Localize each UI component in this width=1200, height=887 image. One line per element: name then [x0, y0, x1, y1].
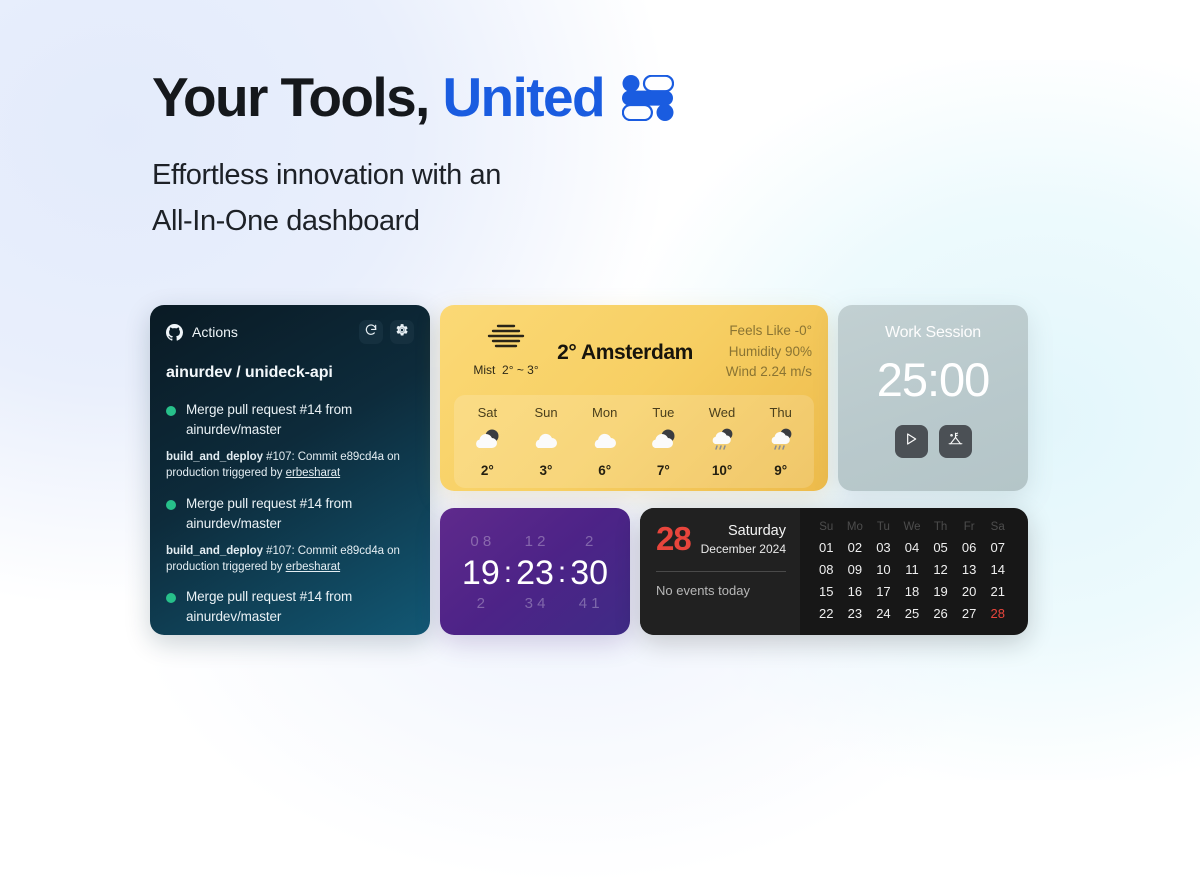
calendar-day-cell[interactable]: 03: [869, 540, 898, 555]
calendar-month-year: December 2024: [701, 542, 786, 556]
calendar-day-cell[interactable]: 16: [841, 584, 870, 599]
gear-icon: [395, 323, 409, 342]
forecast-temp: 3°: [540, 463, 553, 478]
clock-ghost-below: 4 1: [579, 593, 600, 616]
work-session-timer: 25:00: [877, 356, 990, 403]
run-user-link[interactable]: erbesharat: [286, 561, 340, 573]
calendar-day-cell[interactable]: 10: [869, 562, 898, 577]
clock-ghost-above: 0 8: [470, 531, 491, 554]
hero-title-main: Your Tools,: [152, 70, 429, 125]
weather-condition-label: Mist: [473, 363, 495, 377]
github-icon: [166, 324, 183, 341]
calendar-day-cell[interactable]: 22: [812, 606, 841, 621]
weather-stats: Feels Like -0° Humidity 90% Wind 2.24 m/…: [694, 319, 812, 383]
forecast-temp: 10°: [712, 463, 732, 478]
calendar-day-cell[interactable]: 27: [955, 606, 984, 621]
clock-separator-1: :: [504, 556, 512, 592]
calendar-weekday-header: We: [898, 521, 927, 533]
run-workflow: build_and_deploy: [166, 451, 263, 463]
clock-seconds-column[interactable]: 2 30 4 1: [570, 531, 608, 615]
clock-minutes: 23: [516, 554, 554, 593]
page-title: Your Tools, United: [152, 70, 912, 125]
forecast-day[interactable]: Tue 7°: [634, 405, 693, 478]
rain-cloud-icon: [705, 427, 739, 456]
clock-ghost-above: 1 2: [525, 531, 546, 554]
unideck-logo-icon: [622, 75, 674, 121]
actions-card-buttons: [359, 320, 414, 344]
list-item[interactable]: Merge pull request #14 from ainurdev/mas…: [166, 400, 414, 482]
forecast-temp: 2°: [481, 463, 494, 478]
clock-minutes-column[interactable]: 1 2 23 3 4: [516, 531, 554, 615]
forecast-temp: 7°: [657, 463, 670, 478]
calendar-day-cell-today[interactable]: 28: [983, 606, 1012, 621]
weather-current-temp-city: 2° Amsterdam: [557, 341, 693, 365]
forecast-day[interactable]: Wed 10°: [693, 405, 752, 478]
weather-range: 2° ~ 3°: [502, 363, 539, 377]
forecast-day[interactable]: Mon 6°: [575, 405, 634, 478]
weather-wind: Wind 2.24 m/s: [694, 362, 812, 383]
actions-run-list: Merge pull request #14 from ainurdev/mas…: [150, 382, 430, 627]
actions-card-title: Actions: [192, 324, 238, 340]
calendar-day-cell[interactable]: 23: [841, 606, 870, 621]
calendar-day-cell[interactable]: 07: [983, 540, 1012, 555]
calendar-month-grid: Su Mo Tu We Th Fr Sa 01 02 03 04 05 06 0…: [800, 508, 1028, 635]
list-item[interactable]: Merge pull request #14 from ainurdev/mas…: [166, 587, 414, 627]
calendar-day-cell[interactable]: 15: [812, 584, 841, 599]
weather-headline: 2° Amsterdam: [556, 319, 694, 383]
forecast-day[interactable]: Sat 2°: [458, 405, 517, 478]
run-meta: build_and_deploy #107: Commit e89cd4a on…: [166, 449, 414, 482]
run-user-link[interactable]: erbesharat: [286, 467, 340, 479]
calendar-weekday-header: Sa: [983, 521, 1012, 533]
calendar-day-cell[interactable]: 20: [955, 584, 984, 599]
forecast-temp: 9°: [774, 463, 787, 478]
repository-name[interactable]: ainurdev / unideck-api: [150, 344, 430, 382]
hero-title-accent: United: [442, 70, 604, 125]
calendar-day-cell[interactable]: 21: [983, 584, 1012, 599]
status-dot-icon: [166, 500, 176, 510]
work-session-controls: [895, 425, 972, 458]
calendar-today-panel: 28 Saturday December 2024 No events toda…: [640, 508, 800, 635]
weather-feels-like: Feels Like -0°: [694, 321, 812, 342]
calendar-weekday-header: Fr: [955, 521, 984, 533]
clock-seconds: 30: [570, 554, 608, 593]
partly-cloudy-icon: [646, 427, 680, 456]
calendar-day-cell[interactable]: 26: [926, 606, 955, 621]
weather-condition-text: Mist 2° ~ 3°: [473, 363, 538, 377]
calendar-day-number: 28: [656, 522, 691, 555]
refresh-button[interactable]: [359, 320, 383, 344]
calendar-day-cell[interactable]: 19: [926, 584, 955, 599]
clock-hours-column[interactable]: 0 8 19 2: [462, 531, 500, 615]
calendar-day-cell[interactable]: 14: [983, 562, 1012, 577]
forecast-day-name: Wed: [709, 405, 736, 420]
clock-ghost-below: 2: [477, 593, 485, 616]
forecast-day[interactable]: Sun 3°: [517, 405, 576, 478]
rain-cloud-icon: [764, 427, 798, 456]
work-session-card[interactable]: Work Session 25:00: [838, 305, 1028, 491]
settings-button[interactable]: [390, 320, 414, 344]
calendar-day-cell[interactable]: 01: [812, 540, 841, 555]
calendar-day-cell[interactable]: 09: [841, 562, 870, 577]
divider: [656, 571, 786, 572]
calendar-events-text: No events today: [656, 583, 786, 598]
play-icon: [903, 431, 919, 452]
forecast-day-name: Sun: [534, 405, 557, 420]
calendar-grid: Su Mo Tu We Th Fr Sa 01 02 03 04 05 06 0…: [812, 521, 1012, 621]
calendar-day-cell[interactable]: 11: [898, 562, 927, 577]
hero-subtitle: Effortless innovation with an All-In-One…: [152, 153, 912, 245]
clock-separator-2: :: [558, 556, 566, 592]
break-tent-icon: [947, 431, 964, 453]
cloud-icon: [529, 427, 563, 456]
calendar-day-cell[interactable]: 13: [955, 562, 984, 577]
run-workflow: build_and_deploy: [166, 545, 263, 557]
calendar-weekday-header: Su: [812, 521, 841, 533]
calendar-weekday: Saturday: [728, 523, 786, 539]
play-button[interactable]: [895, 425, 928, 458]
clock-ghost-above: 2: [585, 531, 593, 554]
calendar-day-cell[interactable]: 04: [898, 540, 927, 555]
weather-forecast-row: Sat 2° Sun: [454, 395, 814, 488]
break-button[interactable]: [939, 425, 972, 458]
hero-subtitle-line1: Effortless innovation with an: [152, 153, 912, 199]
status-dot-icon: [166, 593, 176, 603]
forecast-day-name: Sat: [478, 405, 498, 420]
clock-card[interactable]: 0 8 19 2 : 1 2 23 3 4 : 2 30 4 1: [440, 508, 630, 635]
forecast-day[interactable]: Thu 9°: [751, 405, 810, 478]
calendar-weekday-header: Th: [926, 521, 955, 533]
hero-section: Your Tools, United Effortless innovation…: [152, 70, 912, 245]
work-session-title: Work Session: [885, 324, 981, 342]
calendar-day-cell[interactable]: 05: [926, 540, 955, 555]
run-message: Merge pull request #14 from ainurdev/mas…: [186, 587, 414, 627]
weather-condition-block: Mist 2° ~ 3°: [456, 319, 556, 383]
weather-humidity: Humidity 90%: [694, 342, 812, 363]
clock-hours: 19: [462, 554, 500, 593]
forecast-day-name: Tue: [652, 405, 674, 420]
calendar-day-cell[interactable]: 12: [926, 562, 955, 577]
calendar-day-cell[interactable]: 24: [869, 606, 898, 621]
refresh-icon: [364, 323, 378, 342]
weather-card[interactable]: Mist 2° ~ 3° 2° Amsterdam Feels Like -0°…: [440, 305, 828, 491]
calendar-weekday-header: Mo: [841, 521, 870, 533]
mist-icon: [485, 323, 527, 356]
calendar-day-cell[interactable]: 25: [898, 606, 927, 621]
clock-picker: 0 8 19 2 : 1 2 23 3 4 : 2 30 4 1: [440, 508, 630, 635]
github-actions-card[interactable]: Actions: [150, 305, 430, 635]
calendar-day-cell[interactable]: 02: [841, 540, 870, 555]
calendar-day-cell[interactable]: 18: [898, 584, 927, 599]
calendar-day-cell[interactable]: 17: [869, 584, 898, 599]
calendar-weekday-header: Tu: [869, 521, 898, 533]
hero-subtitle-line2: All-In-One dashboard: [152, 199, 912, 245]
status-dot-icon: [166, 406, 176, 416]
actions-card-header: Actions: [150, 305, 430, 344]
calendar-day-cell[interactable]: 08: [812, 562, 841, 577]
clock-ghost-below: 3 4: [525, 593, 546, 616]
landing-page: Your Tools, United Effortless innovation…: [0, 0, 1200, 627]
partly-cloudy-icon: [470, 427, 504, 456]
weather-current: Mist 2° ~ 3° 2° Amsterdam Feels Like -0°…: [440, 305, 828, 383]
forecast-temp: 6°: [598, 463, 611, 478]
calendar-card[interactable]: 28 Saturday December 2024 No events toda…: [640, 508, 1028, 635]
forecast-day-name: Thu: [769, 405, 791, 420]
run-message: Merge pull request #14 from ainurdev/mas…: [186, 494, 414, 534]
list-item[interactable]: Merge pull request #14 from ainurdev/mas…: [166, 494, 414, 576]
run-message: Merge pull request #14 from ainurdev/mas…: [186, 400, 414, 440]
forecast-day-name: Mon: [592, 405, 617, 420]
cloud-icon: [588, 427, 622, 456]
calendar-day-cell[interactable]: 06: [955, 540, 984, 555]
run-meta: build_and_deploy #107: Commit e89cd4a on…: [166, 543, 414, 576]
